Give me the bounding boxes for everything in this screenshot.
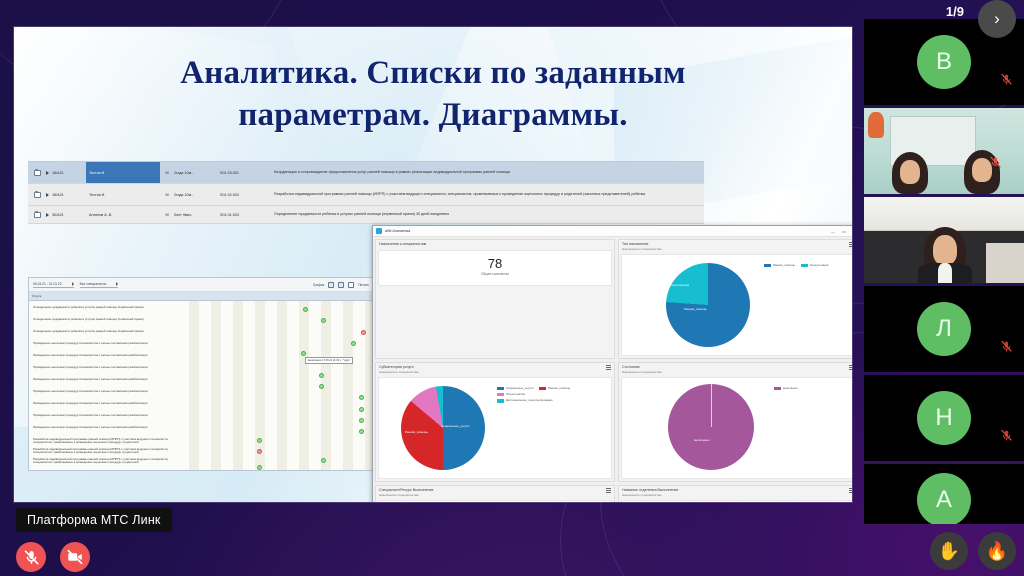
panel-menu-icon[interactable] xyxy=(606,488,611,493)
legend-item: Дистанционное_консультирование xyxy=(497,398,553,403)
chart-panel-state[interactable]: Состояние Назначения к специалистам выпо… xyxy=(618,362,852,482)
panel-title: Специалист/Ресурс Выполнение xyxy=(379,488,611,492)
panel-header: Субкатегория услуги Назначения к специал… xyxy=(376,363,614,374)
webcam-video xyxy=(864,108,1024,194)
participant-tile[interactable]: А xyxy=(864,464,1024,524)
row-age: 0лет 9мес. xyxy=(174,206,220,223)
row-patient-name: Антипов А. В. xyxy=(86,206,160,223)
chevron-right-icon: › xyxy=(994,9,1000,29)
row-folder-cell xyxy=(28,184,46,205)
schedule-status-dot[interactable] xyxy=(303,307,308,312)
analytics-window-titlebar[interactable]: aWt.Аналитика — ▭ ✕ xyxy=(373,226,852,237)
row-sex: М xyxy=(160,162,174,183)
table-row[interactable]: 18/A21 Тестов И. М 2года 10м... S01.02.0… xyxy=(28,184,704,206)
panel-title: Назначения к специалистам xyxy=(379,242,611,246)
row-sex: М xyxy=(160,206,174,223)
participant-tile[interactable]: Н xyxy=(864,375,1024,461)
expand-triangle-icon[interactable] xyxy=(46,193,49,197)
schedule-status-dot[interactable] xyxy=(257,438,262,443)
schedule-row-label: Проведение оценочных процедур специалист… xyxy=(29,402,179,406)
legend-item: Ранняя_помощь xyxy=(539,386,570,391)
chart-legend: выполнено xyxy=(774,386,803,392)
panel-menu-icon[interactable] xyxy=(849,488,852,493)
panel-menu-icon[interactable] xyxy=(849,242,852,247)
kpi-label: Общее количество xyxy=(379,272,611,276)
chart-canvas: выполнено выполнено xyxy=(621,377,852,479)
print-label: Печать xyxy=(358,283,369,287)
avatar: В xyxy=(917,35,971,89)
expand-triangle-icon[interactable] xyxy=(46,171,49,175)
panel-title: Название отделения Выполнение xyxy=(622,488,852,492)
panel-header: Состояние Назначения к специалистам xyxy=(619,363,852,374)
row-age: 2года 10м... xyxy=(174,162,220,183)
legend-label: Психотерапия xyxy=(506,392,525,397)
schedule-service-column-label: Услуга xyxy=(29,294,41,298)
period-value: 06.03.21 - 31.03.22 xyxy=(33,282,62,286)
chart-icon[interactable] xyxy=(328,282,334,288)
row-service-code: S01.03.001 xyxy=(220,162,272,183)
legend-item: выполнено xyxy=(774,386,798,391)
raise-hand-button[interactable]: ✋ xyxy=(930,532,968,570)
panel-title: Тип назначения xyxy=(622,242,852,246)
schedule-grid-panel[interactable]: 06.03.21 - 31.03.22 Все специалисты Граф… xyxy=(28,277,374,471)
legend-item: Ранняя_помощь xyxy=(764,263,795,268)
panel-menu-icon[interactable] xyxy=(849,365,852,370)
maximize-icon[interactable]: ▭ xyxy=(842,229,846,234)
schedule-row-label: Проведение оценочных процедур специалист… xyxy=(29,378,179,382)
schedule-toolbar-actions[interactable]: График Печать xyxy=(313,282,369,288)
folder-icon xyxy=(34,212,41,218)
analytics-window-title: aWt.Аналитика xyxy=(385,229,410,233)
row-number: 30/A21 xyxy=(52,213,64,217)
mic-off-icon xyxy=(1000,428,1013,443)
avatar: Л xyxy=(917,302,971,356)
avatar-initial: Л xyxy=(936,315,952,343)
schedule-toolbar[interactable]: 06.03.21 - 31.03.22 Все специалисты Граф… xyxy=(29,278,373,292)
shared-screen-slide[interactable]: Аналитика. Списки по заданным параметрам… xyxy=(14,27,852,502)
schedule-status-dot[interactable] xyxy=(321,458,326,463)
schedule-status-dot[interactable] xyxy=(319,373,324,378)
row-patient-name: Тестов И. xyxy=(86,184,160,205)
chevron-down-icon xyxy=(72,282,74,286)
schedule-row-label: Разработка индивидуальной программы ранн… xyxy=(29,458,179,465)
panel-header: Специалист/Ресурс Выполнение Назначения … xyxy=(376,486,614,497)
pie-chart xyxy=(401,386,485,470)
avatar: Н xyxy=(917,391,971,445)
kpi-value: 78 xyxy=(379,256,611,271)
schedule-row-label: Разработка индивидуальной программы ранн… xyxy=(29,438,179,445)
analytics-window[interactable]: aWt.Аналитика — ▭ ✕ Назначения к специал… xyxy=(372,225,852,502)
slide-title-line-1: Аналитика. Списки по заданным xyxy=(14,53,852,95)
expand-triangle-icon[interactable] xyxy=(46,213,49,217)
pie-slice-label: выполнено xyxy=(694,438,709,442)
schedule-row-label: Проведение оценочных процедур специалист… xyxy=(29,390,179,394)
mic-off-icon xyxy=(989,155,1002,170)
legend-item: Консультация xyxy=(801,263,828,268)
panel-title: Состояние xyxy=(622,365,852,369)
specialist-filter[interactable]: Все специалисты xyxy=(80,282,119,288)
kpi-panel[interactable]: Назначения к специалистам 78 Общее колич… xyxy=(375,239,615,359)
camera-off-icon xyxy=(66,548,84,566)
pie-slice-label: Ранняя_помощь xyxy=(684,307,707,311)
schedule-row-label: Проведение оценочных процедур специалист… xyxy=(29,426,179,430)
row-description: Разработка индивидуальной программы ранн… xyxy=(272,184,704,205)
schedule-row-label: Проведение оценочных процедур специалист… xyxy=(29,354,179,358)
reaction-button[interactable]: 🔥 xyxy=(978,532,1016,570)
avatar-initial: Н xyxy=(935,404,952,432)
panel-menu-icon[interactable] xyxy=(606,365,611,370)
schedule-row-label: Проведение оценочных процедур специалист… xyxy=(29,342,179,346)
pie-slice-label: Консультация xyxy=(670,283,689,287)
participant-strip[interactable]: В xyxy=(864,19,1024,527)
graph-label: График xyxy=(313,283,324,287)
schedule-status-dot[interactable] xyxy=(257,449,262,454)
row-folder-cell xyxy=(28,206,46,223)
schedule-status-dot[interactable] xyxy=(321,318,326,323)
minimize-icon[interactable]: — xyxy=(831,229,835,234)
schedule-row-label: Проведение оценочных процедур специалист… xyxy=(29,414,179,418)
mic-off-icon xyxy=(1000,339,1013,354)
panel-header: Тип назначения Назначения к специалистам xyxy=(619,240,852,251)
schedule-row-label: Определение нуждаемости ребенка в услуга… xyxy=(29,306,179,310)
row-number-cell: 18/A21 xyxy=(46,184,86,205)
pie-chart xyxy=(666,263,750,347)
schedule-row-label: Проведение оценочных процедур специалист… xyxy=(29,366,179,370)
toggle-camera-button[interactable] xyxy=(60,542,90,572)
platform-badge: Платформа МТС Линк xyxy=(16,508,172,532)
folder-icon xyxy=(34,192,41,198)
schedule-status-dot[interactable] xyxy=(359,418,364,423)
panel-subtitle: Назначения к специалистам xyxy=(622,247,852,251)
row-number-cell: 30/A21 xyxy=(46,206,86,223)
next-slide-button[interactable]: › xyxy=(978,0,1016,38)
chart-legend: Ранняя_помощь Консультация xyxy=(764,263,833,269)
row-number: 18/A21 xyxy=(52,171,64,175)
legend-label: выполнено xyxy=(783,386,798,391)
registry-table[interactable]: 18/A21 Тестов И. М 2года 10м... S01.03.0… xyxy=(28,161,704,224)
schedule-status-dot[interactable] xyxy=(257,465,262,470)
table-row[interactable]: 18/A21 Тестов И. М 2года 10м... S01.03.0… xyxy=(28,162,704,184)
reaction-controls[interactable]: ✋ 🔥 xyxy=(930,532,1016,570)
chevron-down-icon xyxy=(116,282,118,286)
call-controls[interactable] xyxy=(16,542,90,572)
window-controls[interactable]: — ▭ ✕ xyxy=(831,229,852,234)
app-icon xyxy=(376,228,382,234)
legend-label: Ранняя_помощь xyxy=(773,263,795,268)
panel-subtitle: Назначения к специалистам xyxy=(379,493,611,497)
folder-icon xyxy=(34,170,41,176)
pie-slice-label: Ранняя_помощь xyxy=(405,430,428,434)
participant-tile[interactable]: Л xyxy=(864,286,1024,372)
panel-subtitle: Назначения к специалистам xyxy=(622,370,852,374)
pie-chart xyxy=(668,384,754,470)
panel-header: Название отделения Выполнение Назначения… xyxy=(619,486,852,497)
row-patient-name: Тестов И. xyxy=(86,162,160,183)
schedule-row-label: Определение нуждаемости ребенка в услуга… xyxy=(29,318,179,322)
avatar-initial: В xyxy=(936,48,952,76)
chart-canvas: Социальные_услуги Ранняя_помощь Социальн… xyxy=(378,377,612,479)
row-description: Координация и сопровождение предоставлен… xyxy=(272,162,704,183)
schedule-status-dot[interactable] xyxy=(351,341,356,346)
kpi-canvas: 78 Общее количество xyxy=(378,250,612,286)
flame-icon: 🔥 xyxy=(986,541,1008,562)
row-number-cell: 18/A21 xyxy=(46,162,86,183)
analytics-dashboard[interactable]: Назначения к специалистам 78 Общее колич… xyxy=(373,237,852,502)
schedule-status-dot[interactable] xyxy=(359,407,364,412)
chart-canvas: кт. Отделение ранней помощи xyxy=(621,500,852,502)
avatar-initial: А xyxy=(936,486,952,514)
row-service-code: S01.02.003 xyxy=(220,184,272,205)
raise-hand-icon: ✋ xyxy=(938,541,960,562)
schedule-status-dot[interactable] xyxy=(359,395,364,400)
chart-canvas: Иванов П. П. Петров И. И. xyxy=(378,500,612,502)
chart-panel-department[interactable]: Название отделения Выполнение Назначения… xyxy=(618,485,852,502)
chart-panel-specialist[interactable]: Специалист/Ресурс Выполнение Назначения … xyxy=(375,485,615,502)
slide-page-indicator: 1/9 xyxy=(946,4,964,19)
legend-item: Психотерапия xyxy=(497,392,525,397)
schedule-status-dot[interactable] xyxy=(301,351,306,356)
avatar: А xyxy=(917,473,971,524)
panel-subtitle: Назначения к специалистам xyxy=(622,493,852,497)
export-icon[interactable] xyxy=(338,282,344,288)
chart-panel-subcategory[interactable]: Субкатегория услуги Назначения к специал… xyxy=(375,362,615,482)
webcam-video xyxy=(864,197,1024,283)
schedule-row-label: Разработка индивидуальной программы ранн… xyxy=(29,448,179,455)
participant-tile-active-speaker[interactable] xyxy=(864,197,1024,283)
mic-off-icon xyxy=(23,549,40,566)
toggle-microphone-button[interactable] xyxy=(16,542,46,572)
schedule-column-header: Услуга xyxy=(29,292,373,301)
row-sex: М xyxy=(160,184,174,205)
schedule-status-dot[interactable] xyxy=(361,330,366,335)
table-row[interactable]: 30/A21 Антипов А. В. М 0лет 9мес. S01.01… xyxy=(28,206,704,224)
print-icon[interactable] xyxy=(348,282,354,288)
legend-label: Дистанционное_консультирование xyxy=(506,398,553,403)
row-age: 2года 10м... xyxy=(174,184,220,205)
schedule-tooltip: выполнено 17.08.21 11:32 ч. "Чудо" xyxy=(305,357,353,364)
legend-label: Ранняя_помощь xyxy=(548,386,570,391)
legend-label: Консультация xyxy=(810,263,828,268)
pie-slice-label: Социальные_услуги xyxy=(441,424,469,428)
mic-off-icon xyxy=(1000,72,1013,87)
schedule-row-label: Определение нуждаемости ребенка в услуга… xyxy=(29,330,179,334)
participant-tile[interactable] xyxy=(864,108,1024,194)
chart-canvas: Ранняя_помощь Консультация Ранняя_помощь… xyxy=(621,254,852,356)
schedule-body[interactable]: Определение нуждаемости ребенка в услуга… xyxy=(29,301,373,471)
panel-header: Назначения к специалистам xyxy=(376,240,614,246)
row-folder-cell xyxy=(28,162,46,183)
chart-panel-type[interactable]: Тип назначения Назначения к специалистам… xyxy=(618,239,852,359)
row-service-code: S01.01.003 xyxy=(220,206,272,223)
period-selector[interactable]: 06.03.21 - 31.03.22 xyxy=(33,282,74,288)
legend-item: Социальные_услуги xyxy=(497,386,533,391)
row-description: Определение нуждаемости ребенка в услуга… xyxy=(272,206,704,223)
slide-title-line-2: параметрам. Диаграммы. xyxy=(14,95,852,137)
schedule-status-dot[interactable] xyxy=(319,384,324,389)
page-title: Аналитика. Списки по заданным параметрам… xyxy=(14,53,852,137)
chart-legend: Социальные_услуги Ранняя_помощь Психотер… xyxy=(497,386,615,404)
legend-label: Социальные_услуги xyxy=(506,386,533,391)
panel-subtitle: Назначения к специалистам xyxy=(379,370,611,374)
specialist-filter-value: Все специалисты xyxy=(80,282,107,286)
schedule-status-dot[interactable] xyxy=(359,429,364,434)
row-number: 18/A21 xyxy=(52,193,64,197)
panel-title: Субкатегория услуги xyxy=(379,365,611,369)
